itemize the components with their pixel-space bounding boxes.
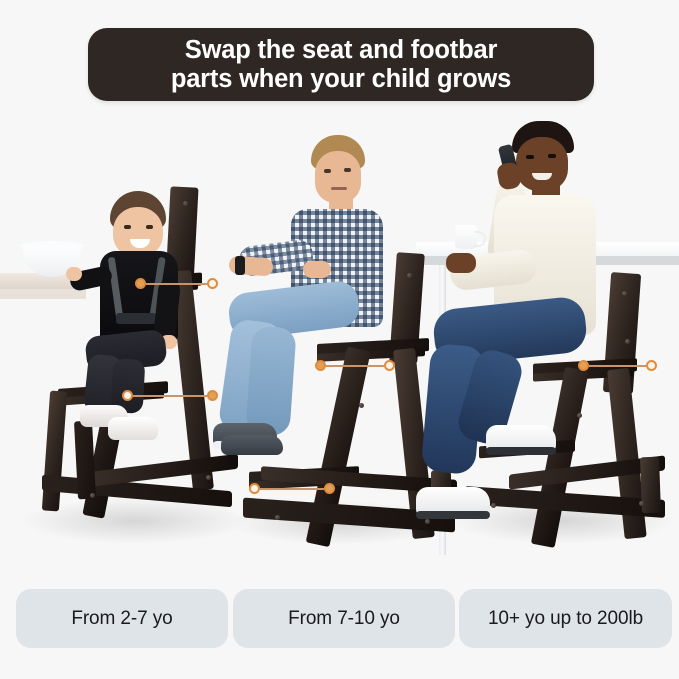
annotation-marker-start xyxy=(135,278,146,289)
person-adult xyxy=(440,107,640,537)
teen-wristwatch xyxy=(235,256,245,275)
toddler-harness-buckle xyxy=(116,313,156,324)
toddler-hand-left xyxy=(66,267,82,281)
adult-eye-right xyxy=(548,154,556,158)
screw xyxy=(90,493,95,498)
annotation-line xyxy=(133,395,207,397)
chair-toddler-side-rail xyxy=(42,391,67,512)
toddler-face xyxy=(113,207,163,257)
annotation-teen-footbar xyxy=(249,483,335,494)
annotation-marker-start xyxy=(578,360,589,371)
caption-label-teen: From 7-10 yo xyxy=(288,608,400,630)
adult-shoe-front-sole xyxy=(486,447,556,455)
annotation-marker-start xyxy=(122,390,133,401)
annotation-adult-seat xyxy=(578,360,657,371)
annotation-line xyxy=(260,488,324,490)
annotation-line xyxy=(146,283,207,285)
caption-row: From 2-7 yo From 7-10 yo 10+ yo up to 20… xyxy=(0,589,679,649)
toddler-eye-right xyxy=(146,225,153,229)
teen-mouth xyxy=(331,187,347,190)
teen-eye-right xyxy=(344,168,351,172)
annotation-marker-end xyxy=(207,390,218,401)
header-banner-text: Swap the seat and footbar parts when you… xyxy=(157,36,525,93)
annotation-marker-end xyxy=(324,483,335,494)
annotation-marker-end xyxy=(384,360,395,371)
caption-label-adult: 10+ yo up to 200lb xyxy=(488,608,643,630)
annotation-toddler-seat xyxy=(135,278,218,289)
person-teen xyxy=(245,135,420,465)
infographic-stage: Swap the seat and footbar parts when you… xyxy=(0,0,679,679)
header-banner-line-1: Swap the seat and footbar xyxy=(171,36,511,65)
screw xyxy=(275,515,280,520)
teen-eye-left xyxy=(324,169,331,173)
caption-box-teen: From 7-10 yo xyxy=(233,589,455,648)
caption-label-toddler: From 2-7 yo xyxy=(71,608,172,630)
annotation-line xyxy=(589,365,646,367)
header-banner: Swap the seat and footbar parts when you… xyxy=(88,28,594,101)
adult-eye-left xyxy=(526,155,534,159)
annotation-marker-end xyxy=(207,278,218,289)
toddler-shoe-right xyxy=(108,417,158,440)
caption-box-toddler: From 2-7 yo xyxy=(16,589,228,648)
toddler-eye-left xyxy=(124,225,131,229)
header-banner-line-2: parts when your child grows xyxy=(171,65,511,94)
annotation-teen-seat xyxy=(315,360,395,371)
annotation-line xyxy=(326,365,384,367)
annotation-marker-start xyxy=(249,483,260,494)
teen-hand xyxy=(303,261,331,278)
adult-shoe-floor-sole xyxy=(416,511,490,519)
annotation-marker-start xyxy=(315,360,326,371)
caption-box-adult: 10+ yo up to 200lb xyxy=(459,589,672,648)
teen-jeans-shin-2 xyxy=(245,326,296,437)
product-scene xyxy=(0,103,679,573)
adult-hand-mug xyxy=(446,253,476,273)
teen-face xyxy=(315,151,361,203)
annotation-marker-end xyxy=(646,360,657,371)
screw xyxy=(425,519,430,524)
screw xyxy=(206,475,211,480)
adult-face xyxy=(516,137,568,191)
teen-shoe-right xyxy=(221,435,283,455)
annotation-toddler-footbar xyxy=(122,390,218,401)
